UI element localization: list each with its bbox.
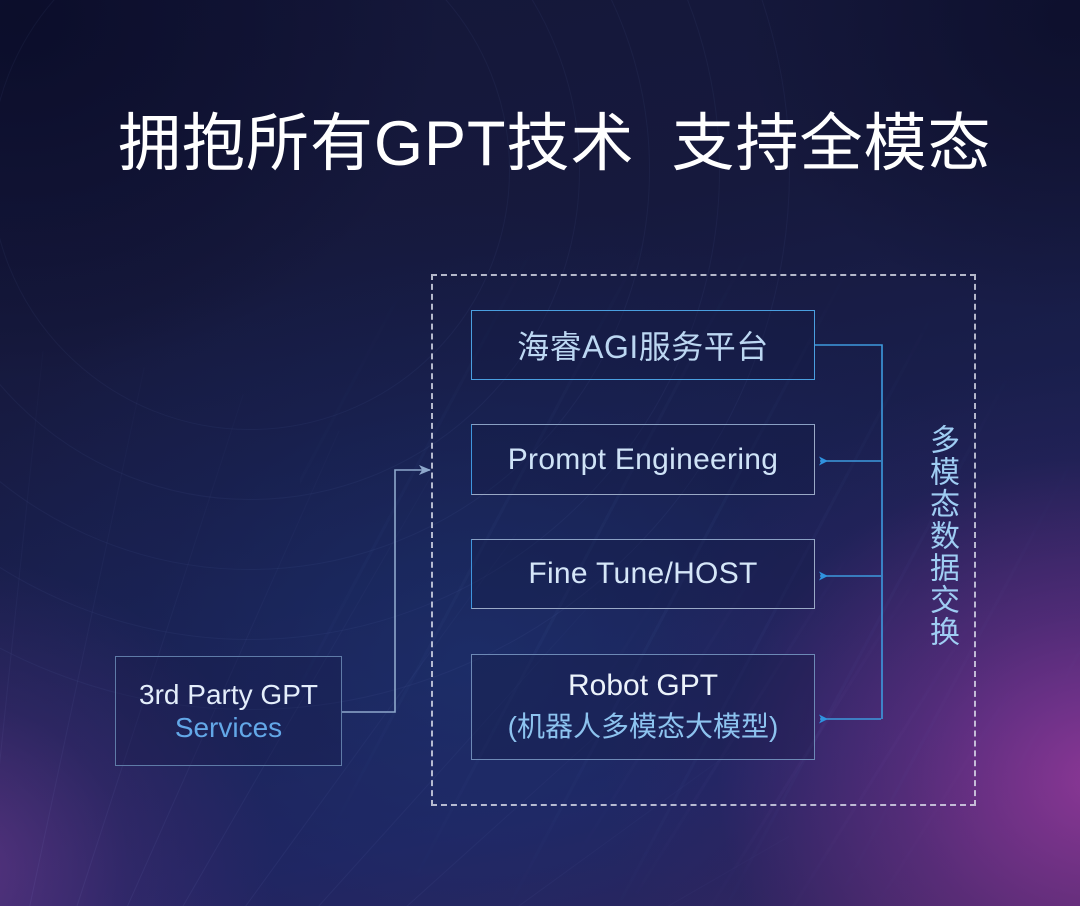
multimodal-data-exchange-label: 多模态数据交换 xyxy=(916,424,956,648)
box-finetune-line1: Fine Tune/HOST xyxy=(528,557,757,591)
box-robot-line1: Robot GPT xyxy=(568,669,718,703)
box-thirdparty-line1: 3rd Party GPT xyxy=(139,679,318,711)
box-platform[interactable]: 海睿AGI服务平台 xyxy=(471,310,815,380)
slide-canvas: 拥抱所有GPT技术 支持全模态 海睿AGI服务平台 Prompt Engi xyxy=(0,0,1080,906)
box-thirdparty-line2: Services xyxy=(175,712,282,744)
page-title: 拥抱所有GPT技术 支持全模态 xyxy=(118,109,992,180)
box-prompt-line1: Prompt Engineering xyxy=(508,443,779,477)
box-fine-tune-host[interactable]: Fine Tune/HOST xyxy=(471,539,815,609)
box-robot-gpt[interactable]: Robot GPT (机器人多模态大模型) xyxy=(471,654,815,760)
box-prompt-engineering[interactable]: Prompt Engineering xyxy=(471,424,815,495)
box-platform-line1: 海睿AGI服务平台 xyxy=(517,322,769,368)
box-robot-line2: (机器人多模态大模型) xyxy=(508,705,779,745)
box-third-party-gpt-services[interactable]: 3rd Party GPT Services xyxy=(115,656,342,766)
